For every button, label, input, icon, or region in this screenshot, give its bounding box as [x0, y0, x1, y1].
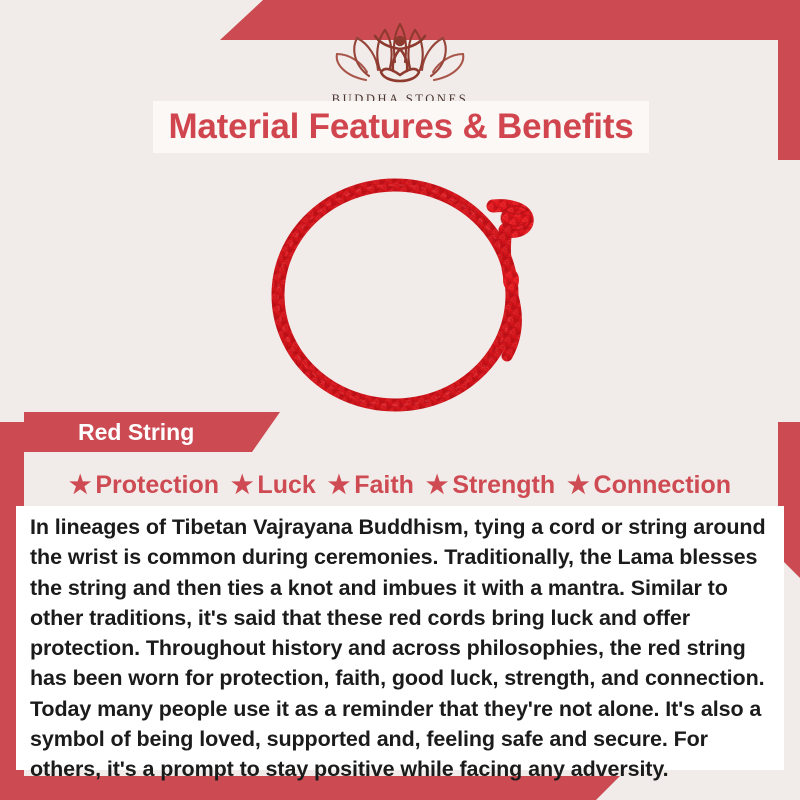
benefit-label: Luck [257, 471, 315, 500]
brand-logo: BUDDHA STONES [0, 14, 800, 107]
description-text: In lineages of Tibetan Vajrayana Buddhis… [30, 512, 770, 785]
benefit-item-connection: ★ Connection [567, 471, 731, 500]
infographic-poster: BUDDHA STONES Material Features & Benefi… [0, 0, 800, 800]
page-title-text: Material Features & Benefits [168, 107, 633, 147]
benefit-item-strength: ★ Strength [426, 471, 555, 500]
star-icon: ★ [231, 473, 253, 498]
page-title: Material Features & Benefits [153, 101, 649, 153]
star-icon: ★ [426, 473, 448, 498]
benefit-item-protection: ★ Protection [69, 471, 219, 500]
benefit-item-faith: ★ Faith [328, 471, 414, 500]
benefit-label: Strength [452, 471, 555, 500]
red-string-bracelet-illustration [235, 160, 565, 422]
benefit-label: Faith [354, 471, 414, 500]
material-ribbon: Red String [24, 412, 280, 452]
description-card: In lineages of Tibetan Vajrayana Buddhis… [16, 506, 784, 770]
benefit-label: Protection [95, 471, 219, 500]
star-icon: ★ [69, 473, 91, 498]
benefit-label: Connection [594, 471, 732, 500]
benefits-list: ★ Protection ★ Luck ★ Faith ★ Strength ★… [0, 466, 800, 504]
benefit-item-luck: ★ Luck [231, 471, 316, 500]
product-image [0, 160, 800, 422]
star-icon: ★ [328, 473, 350, 498]
star-icon: ★ [567, 473, 589, 498]
lotus-meditation-icon [325, 14, 475, 90]
material-ribbon-label: Red String [78, 419, 194, 446]
